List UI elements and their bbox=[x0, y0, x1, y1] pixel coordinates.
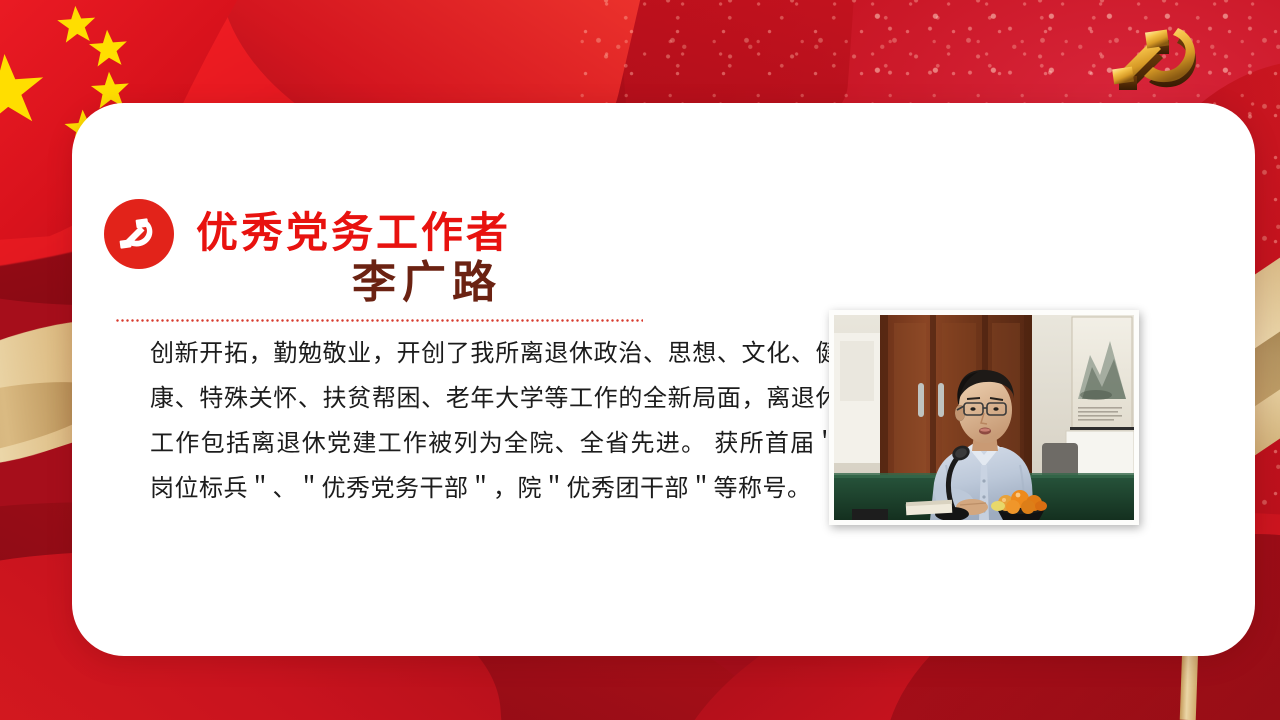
description-text: 创新开拓，勤勉敬业，开创了我所离退休政治、思想、文化、健康、特殊关怀、扶贫帮困、… bbox=[150, 331, 840, 511]
party-emblem-badge-icon bbox=[104, 199, 174, 269]
portrait-photo-frame bbox=[829, 310, 1139, 525]
content-card: 优秀党务工作者 李广路 创新开拓，勤勉敬业，开创了我所离退休政治、思想、文化、健… bbox=[72, 103, 1255, 656]
portrait-photo bbox=[834, 315, 1134, 520]
dotted-divider bbox=[115, 319, 643, 322]
slide-canvas: 优秀党务工作者 李广路 创新开拓，勤勉敬业，开创了我所离退休政治、思想、文化、健… bbox=[0, 0, 1280, 720]
page-title: 优秀党务工作者 bbox=[196, 213, 511, 255]
person-name: 李广路 bbox=[352, 261, 502, 305]
description-paragraph: 创新开拓，勤勉敬业，开创了我所离退休政治、思想、文化、健康、特殊关怀、扶贫帮困、… bbox=[150, 331, 840, 511]
hammer-sickle-emblem-icon bbox=[1108, 22, 1218, 102]
